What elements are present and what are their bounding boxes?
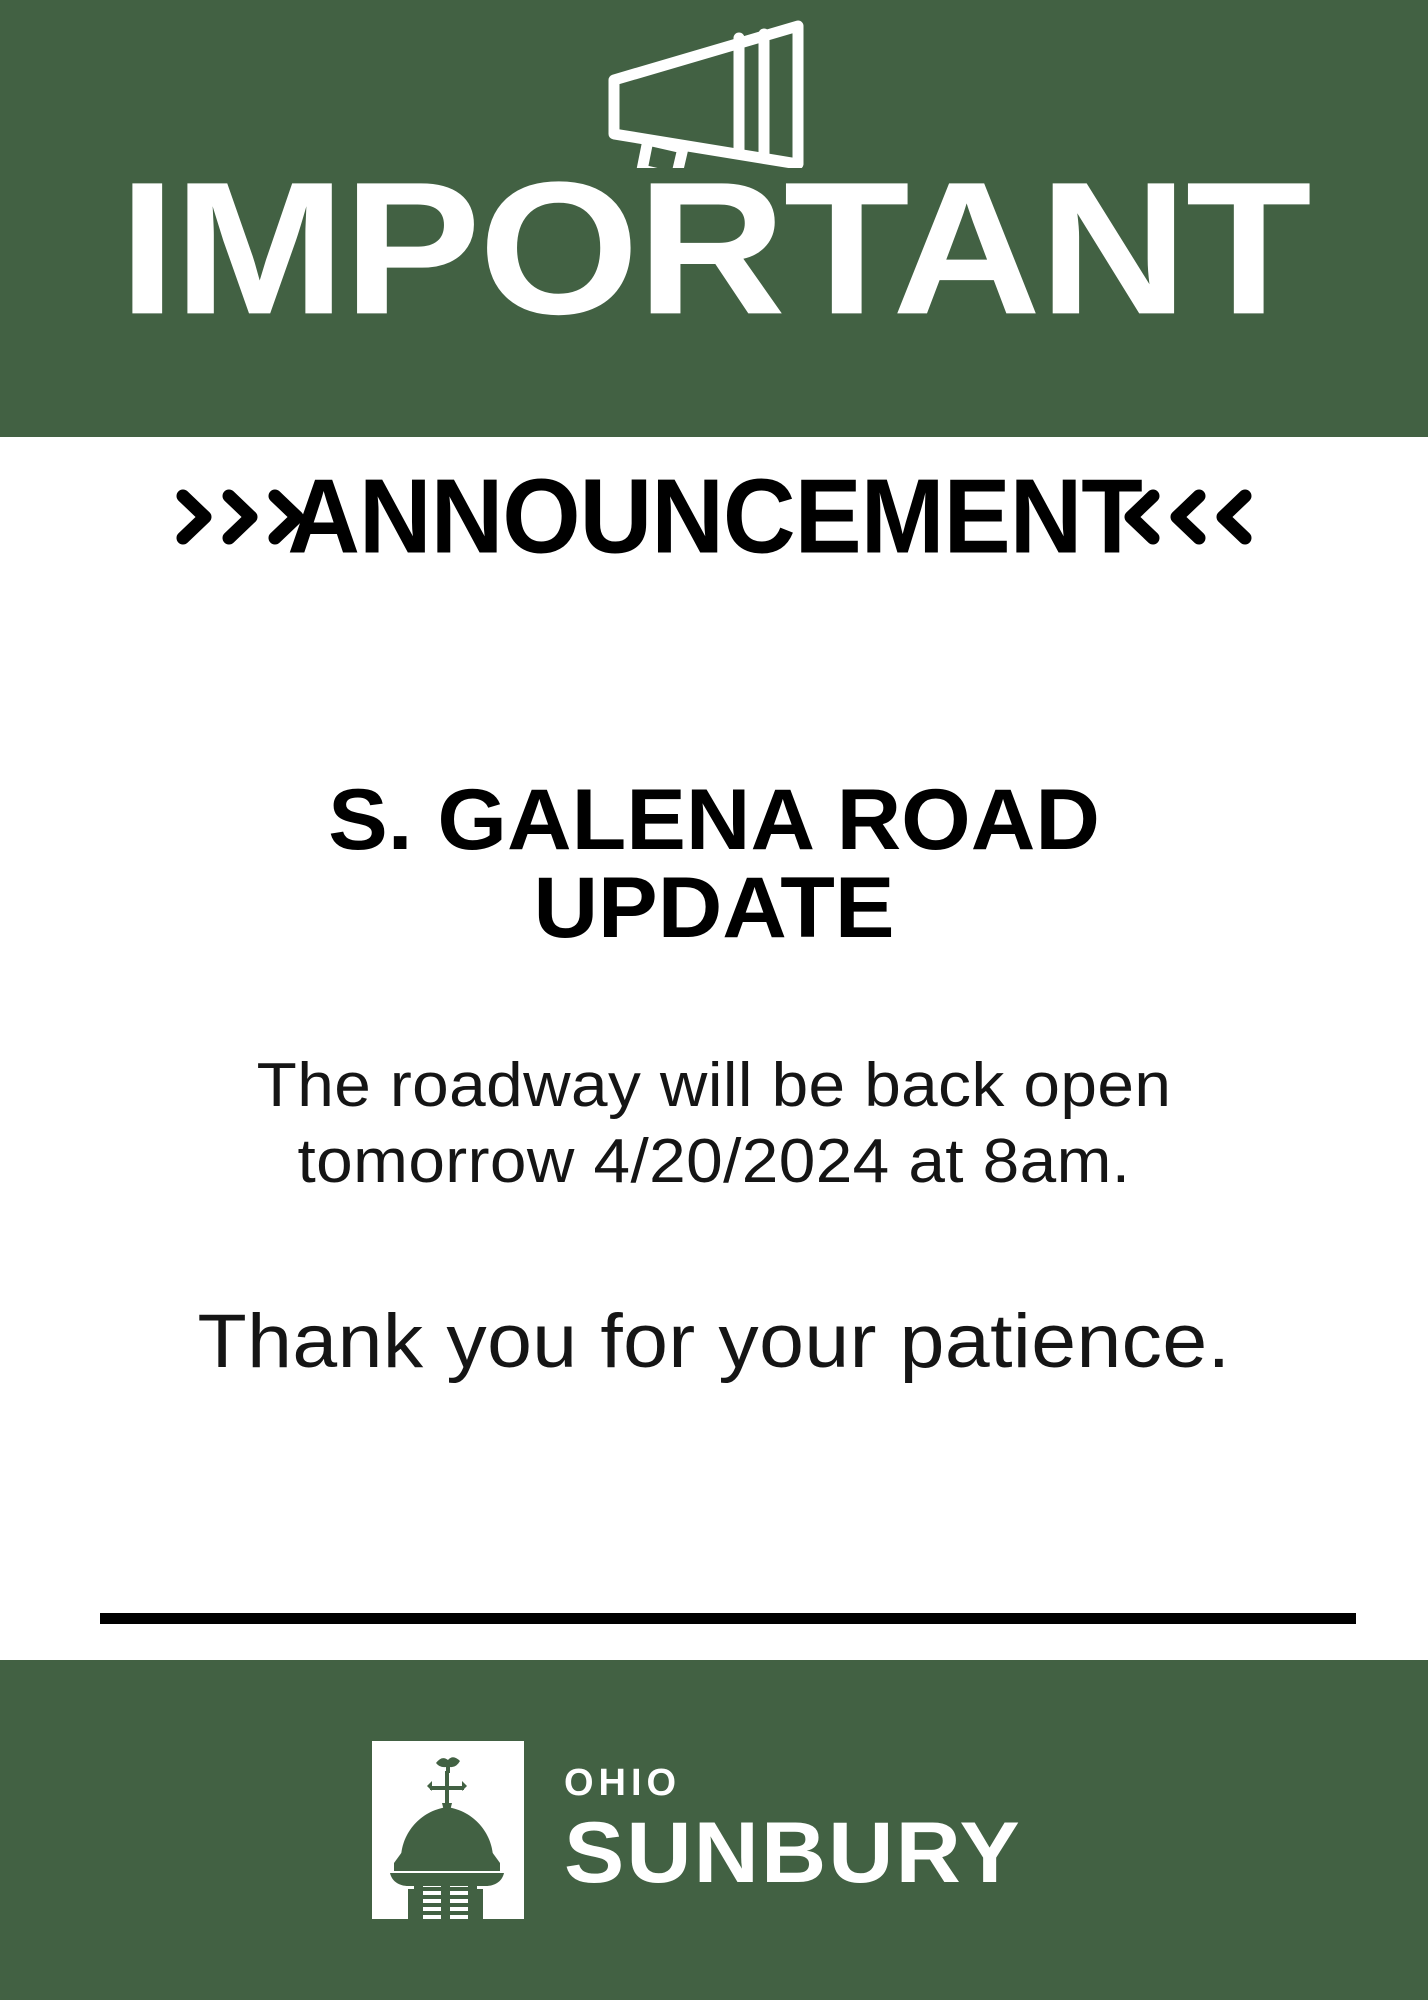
sunbury-logo-lockup: OHIO SUNBURY xyxy=(372,1741,1000,1919)
body-text: The roadway will be back open tomorrow 4… xyxy=(152,1048,1276,1199)
page-title: IMPORTANT xyxy=(0,160,1428,340)
sunbury-logo-wordmark: OHIO SUNBURY xyxy=(564,1764,1000,1896)
closing-text: Thank you for your patience. xyxy=(78,1296,1350,1387)
chevron-right-icon xyxy=(175,488,215,546)
announcement-row: ANNOUNCEMENT xyxy=(0,437,1428,597)
headline: S. GALENA ROAD UPDATE xyxy=(194,777,1234,952)
horizontal-divider xyxy=(100,1613,1356,1624)
logo-city-label: SUNBURY xyxy=(564,1810,1022,1896)
logo-state-label: OHIO xyxy=(564,1764,1000,1802)
main-content: S. GALENA ROAD UPDATE The roadway will b… xyxy=(0,597,1428,1660)
sunbury-cupola-icon xyxy=(372,1741,524,1919)
chevron-left-icon xyxy=(1167,488,1207,546)
announcement-poster: IMPORTANT ANNOUNCEMENT xyxy=(0,0,1428,2000)
footer-band: OHIO SUNBURY xyxy=(0,1660,1428,2000)
chevron-left-icon xyxy=(1213,488,1253,546)
announcement-label: ANNOUNCEMENT xyxy=(287,464,1142,570)
chevron-right-icon xyxy=(221,488,261,546)
header-band: IMPORTANT xyxy=(0,0,1428,437)
